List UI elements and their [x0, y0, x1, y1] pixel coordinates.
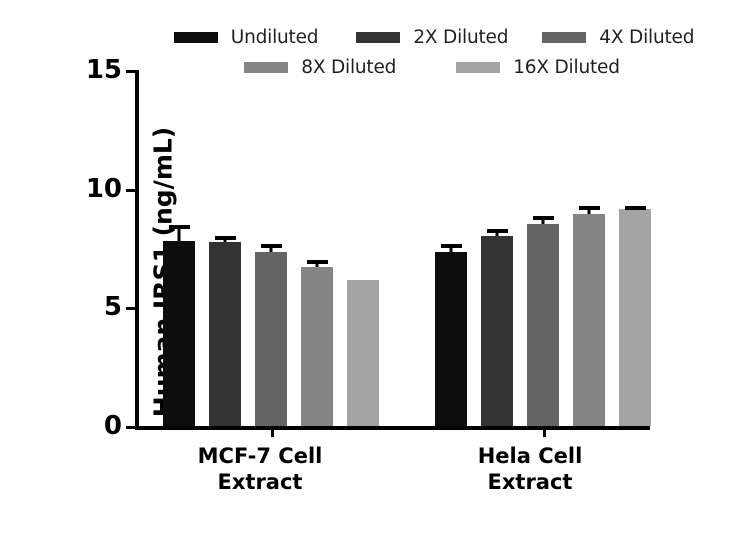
error-bar	[542, 216, 545, 224]
error-bar-cap	[579, 206, 600, 210]
bar-8x-diluted-group-2	[573, 214, 605, 426]
error-bar	[178, 225, 181, 240]
bar-4x-diluted-group-1	[255, 252, 287, 426]
error-bar-cap	[261, 244, 282, 248]
legend-item-4x-diluted: 4X Diluted	[542, 27, 694, 48]
x-group-label-hela-line1: Hela Cell	[430, 443, 630, 469]
y-tick-label-15: 15	[86, 55, 122, 85]
y-tick-0	[126, 426, 135, 429]
legend-item-2x-diluted: 2X Diluted	[356, 27, 508, 48]
legend-label-undiluted: Undiluted	[231, 27, 319, 48]
x-axis-line	[135, 426, 650, 430]
error-bar	[224, 236, 227, 242]
error-bar-cap	[307, 260, 328, 264]
x-tick-group-2	[543, 426, 546, 437]
y-axis-line	[135, 70, 139, 430]
error-bar-cap	[441, 244, 462, 248]
x-group-label-mcf7: MCF-7 Cell Extract	[160, 443, 360, 496]
plot-area: 051015	[135, 70, 650, 430]
y-tick-5	[126, 307, 135, 310]
error-bar-cap	[169, 225, 190, 229]
bar-2x-diluted-group-1	[209, 242, 241, 426]
error-bar-cap	[625, 206, 646, 210]
error-bar	[270, 244, 273, 251]
error-bar-cap	[487, 229, 508, 233]
bar-chart: Undiluted 2X Diluted 4X Diluted 8X Dilut…	[0, 0, 750, 543]
x-group-label-mcf7-line1: MCF-7 Cell	[160, 443, 360, 469]
bar-8x-diluted-group-1	[301, 267, 333, 426]
error-bar	[588, 206, 591, 213]
x-group-label-mcf7-line2: Extract	[160, 469, 360, 495]
legend-swatch-undiluted	[174, 32, 218, 43]
bar-2x-diluted-group-2	[481, 236, 513, 426]
bar-undiluted-group-1	[163, 241, 195, 426]
y-tick-label-5: 5	[104, 292, 122, 322]
y-tick-10	[126, 189, 135, 192]
bar-undiluted-group-2	[435, 252, 467, 426]
x-group-label-hela: Hela Cell Extract	[430, 443, 630, 496]
legend-swatch-4x-diluted	[542, 32, 586, 43]
error-bar	[316, 260, 319, 267]
error-bar	[496, 229, 499, 237]
legend-item-undiluted: Undiluted	[174, 27, 319, 48]
error-bar	[450, 244, 453, 251]
bar-16x-diluted-group-1	[347, 280, 379, 426]
bar-4x-diluted-group-2	[527, 224, 559, 426]
x-tick-group-1	[271, 426, 274, 437]
y-tick-label-0: 0	[104, 411, 122, 441]
legend-swatch-2x-diluted	[356, 32, 400, 43]
legend-label-4x-diluted: 4X Diluted	[599, 27, 694, 48]
error-bar	[634, 206, 637, 209]
error-bar-cap	[215, 236, 236, 240]
y-tick-label-10: 10	[86, 174, 122, 204]
x-group-label-hela-line2: Extract	[430, 469, 630, 495]
y-tick-15	[126, 70, 135, 73]
legend-row-1: Undiluted 2X Diluted 4X Diluted	[150, 22, 710, 52]
error-bar-cap	[533, 216, 554, 220]
bar-16x-diluted-group-2	[619, 209, 651, 426]
legend-label-2x-diluted: 2X Diluted	[413, 27, 508, 48]
